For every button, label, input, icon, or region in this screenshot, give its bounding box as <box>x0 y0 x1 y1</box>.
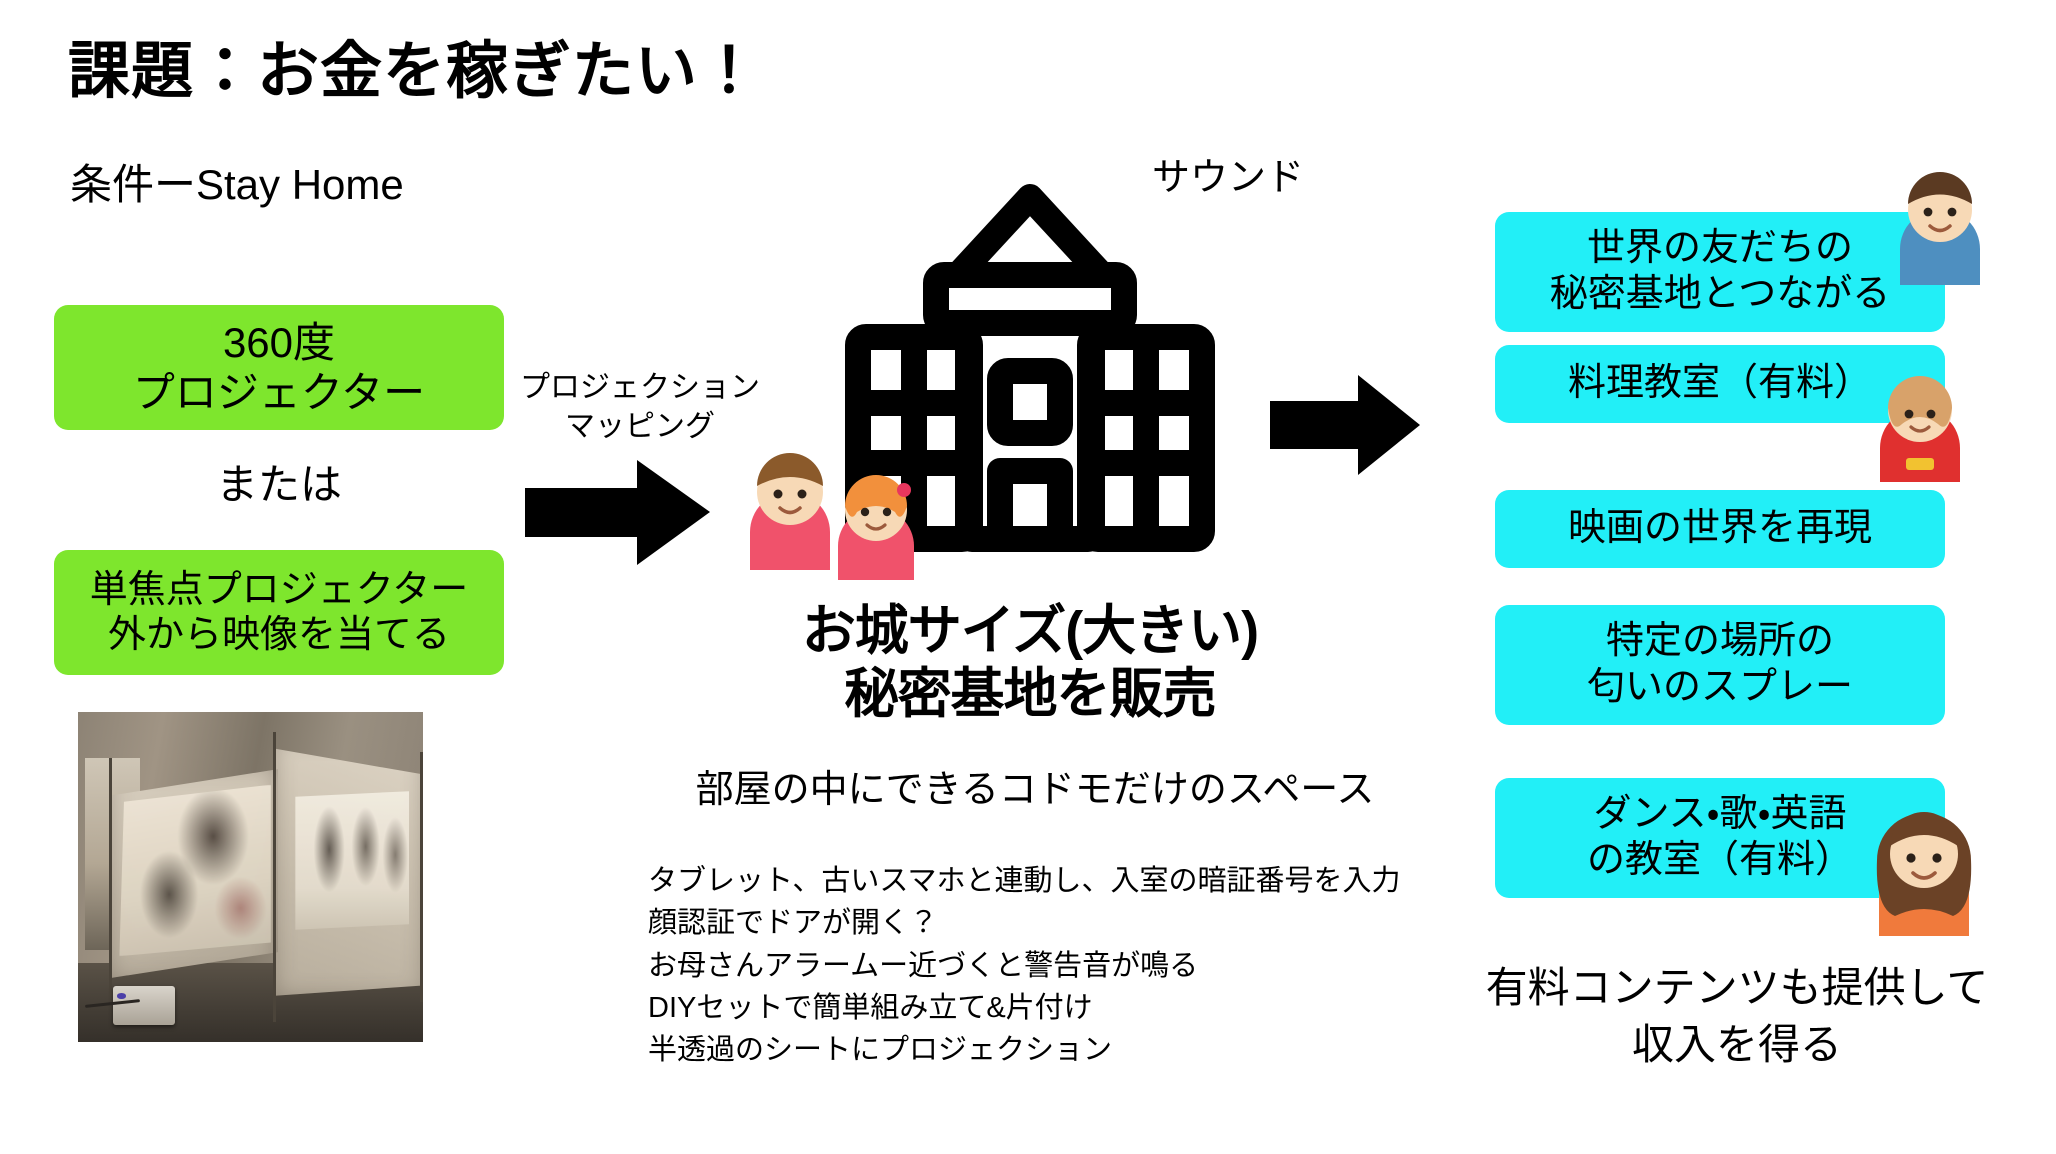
bottom-note: 有料コンテンツも提供して 収入を得る <box>1452 960 2022 1073</box>
center-body-text: タブレット、古いスマホと連動し、入室の暗証番号を入力 顔認証でドアが開く？ お母… <box>648 860 1468 1072</box>
cyan-box-scent-spray[interactable]: 特定の場所の 匂いのスプレー <box>1495 605 1945 725</box>
photo-tent-pole <box>273 732 276 1022</box>
body-line: お母さんアラームー近づくと警告音が鳴る <box>648 945 1468 987</box>
body-line: 顔認証でドアが開く？ <box>648 902 1468 944</box>
photo-projection-right <box>295 791 409 930</box>
or-label: または <box>54 462 504 508</box>
green-box-1-label: 360度 プロジェクター <box>133 318 425 417</box>
cyan-box-3-label: 特定の場所の 匂いのスプレー <box>1587 619 1853 710</box>
photo-projector-device <box>113 986 175 1026</box>
green-box-360-projector[interactable]: 360度 プロジェクター <box>54 305 504 430</box>
girl-red-avatar-icon <box>1872 362 1968 482</box>
body-line: 半透過のシートにプロジェクション <box>648 1029 1468 1071</box>
projection-mapping-label: プロジェクション マッピング <box>510 368 770 446</box>
body-line: タブレット、古いスマホと連動し、入室の暗証番号を入力 <box>648 860 1468 902</box>
photo-tent-pole <box>420 752 423 1003</box>
cyan-box-1-label: 料理教室（有料） <box>1568 361 1872 407</box>
left-arrow-icon <box>525 460 710 565</box>
boy-avatar-icon <box>1890 160 1990 285</box>
cyan-box-4-label: ダンス・歌・英語 の教室（有料） <box>1587 792 1853 883</box>
photo-projection-left <box>119 785 271 957</box>
woman-avatar-icon <box>1865 788 1983 936</box>
green-box-short-throw-projector[interactable]: 単焦点プロジェクター 外から映像を当てる <box>54 550 504 675</box>
page-title: 課題：お金を稼ぎたい！ <box>68 38 968 106</box>
right-arrow-icon <box>1270 375 1420 475</box>
center-subtitle: 部屋の中にできるコドモだけのスペース <box>640 768 1430 814</box>
cyan-box-0-label: 世界の友だちの 秘密基地とつながる <box>1550 226 1890 317</box>
photo-tent-pole <box>109 758 112 996</box>
green-box-2-label: 単焦点プロジェクター 外から映像を当てる <box>90 568 468 658</box>
boy-avatar-icon <box>740 440 840 570</box>
cyan-box-movie-world[interactable]: 映画の世界を再現 <box>1495 490 1945 568</box>
center-headline: お城サイズ(大きい) 秘密基地を販売 <box>740 600 1320 725</box>
condition-label: 条件ーStay Home <box>70 162 404 208</box>
cyan-box-2-label: 映画の世界を再現 <box>1568 506 1872 552</box>
body-line: DIYセットで簡単組み立て&片付け <box>648 987 1468 1029</box>
projection-tent-photo <box>78 712 423 1042</box>
girl-avatar-icon <box>830 462 922 580</box>
cyan-box-world-friends[interactable]: 世界の友だちの 秘密基地とつながる <box>1495 212 1945 332</box>
